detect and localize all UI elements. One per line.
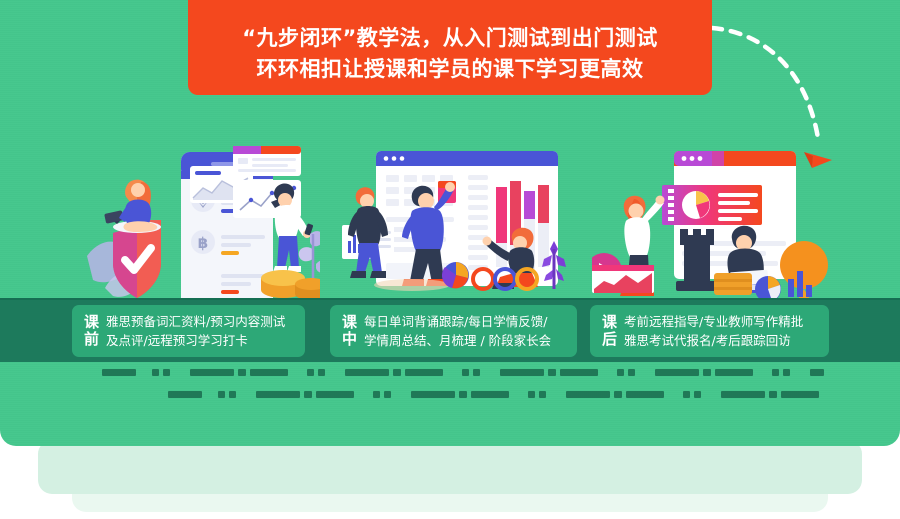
info-box-text-in-class: 每日单词背诵跟踪/每日学情反馈/ 学情周总结、月梳理 / 阶段家长会 (364, 312, 567, 350)
blurred-text-block (0, 365, 900, 415)
stage-tag-top: 课 (342, 314, 357, 331)
info-box-post-class[interactable]: 课 后 考前远程指导/专业教师写作精批 雅思考试代报名/考后跟踪回访 (590, 305, 829, 357)
info-box-pre-class[interactable]: 课 前 雅思预备词汇资料/预习内容测试 及点评/远程预习学习打卡 (72, 305, 305, 357)
stage-tag-bottom: 后 (602, 331, 617, 348)
info-box-in-class[interactable]: 课 中 每日单词背诵跟踪/每日学情反馈/ 学情周总结、月梳理 / 阶段家长会 (330, 305, 577, 357)
stage-tag-bottom: 中 (342, 331, 357, 348)
svg-text:฿: ฿ (198, 234, 208, 252)
in-class-illustration (340, 145, 575, 313)
info-line-1: 考前远程指导/专业教师写作精批 (624, 312, 819, 331)
info-line-2: 雅思考试代报名/考后跟踪回访 (624, 331, 819, 350)
pre-class-illustration: ฿ (85, 138, 320, 313)
stage-tag-top: 课 (602, 314, 617, 331)
dashed-curved-arrow (700, 10, 880, 175)
info-box-text-pre-class: 雅思预备词汇资料/预习内容测试 及点评/远程预习学习打卡 (106, 312, 295, 350)
card-stack-shadow-inner (38, 440, 862, 494)
info-line-2: 及点评/远程预习学习打卡 (106, 331, 295, 350)
info-box-text-post-class: 考前远程指导/专业教师写作精批 雅思考试代报名/考后跟踪回访 (624, 312, 819, 350)
stage-tag-post-class: 课 后 (602, 314, 617, 348)
title-line-1: “九步闭环”教学法，从入门测试到出门测试 (242, 23, 658, 54)
stage-tag-bottom: 前 (84, 331, 99, 348)
band-divider (0, 298, 900, 300)
info-line-1: 雅思预备词汇资料/预习内容测试 (106, 312, 295, 331)
info-line-2: 学情周总结、月梳理 / 阶段家长会 (364, 331, 567, 350)
title-banner: “九步闭环”教学法，从入门测试到出门测试 环环相扣让授课和学员的课下学习更高效 (188, 0, 712, 95)
stage-tag-pre-class: 课 前 (84, 314, 99, 348)
info-line-1: 每日单词背诵跟踪/每日学情反馈/ (364, 312, 567, 331)
infographic-canvas: ฿ (0, 0, 900, 519)
stage-tag-top: 课 (84, 314, 99, 331)
stage-tag-in-class: 课 中 (342, 314, 357, 348)
title-line-2: 环环相扣让授课和学员的课下学习更高效 (257, 54, 644, 85)
